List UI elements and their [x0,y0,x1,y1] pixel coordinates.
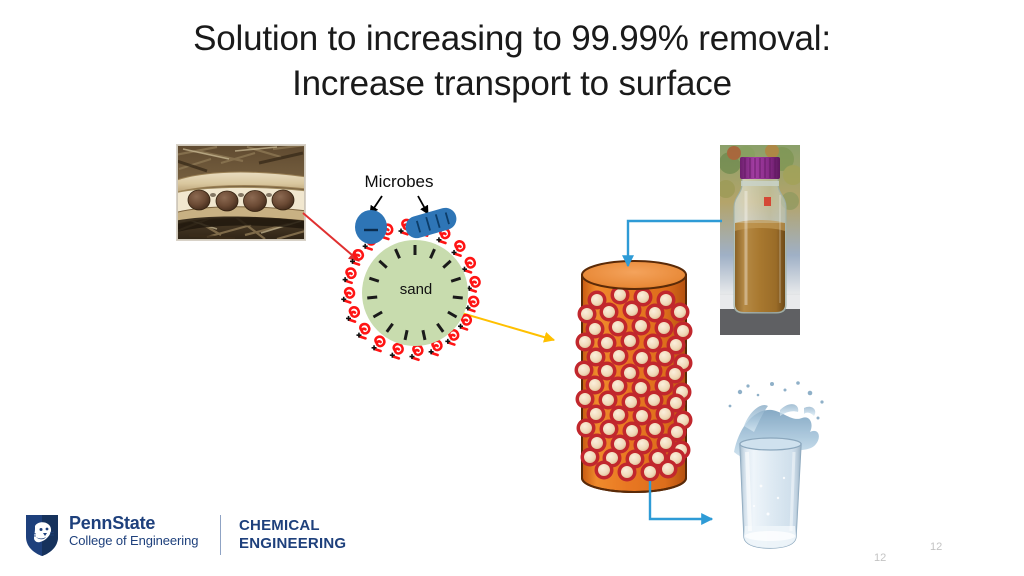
pennstate-wordmark: PennState College of Engineering [69,513,198,549]
page-number-a: 12 [874,552,886,564]
arrow-to-rod-microbe [418,196,428,214]
clean-water-glass-photo [706,366,836,558]
department-name: CHEMICAL ENGINEERING [239,517,346,553]
arrow-to-round-microbe [370,196,382,214]
round-microbe-icon [355,210,387,244]
brand-name: PennState [69,513,198,533]
column-top-surface [582,261,686,289]
turbid-water-bottle-photo [720,145,800,335]
page-number-b: 12 [930,541,942,553]
arrow-sand-to-column [458,312,554,340]
slide-canvas: Solution to increasing to 99.99% removal… [0,0,1024,576]
title-line-1: Solution to increasing to 99.99% removal… [62,16,962,61]
connector-bottle-to-column [628,221,722,266]
arrow-seedpod-to-sand [303,213,359,261]
brand-subtitle: College of Engineering [69,533,198,549]
seedpod-photo [176,144,306,241]
pennstate-logo: PennState College of Engineering CHEMICA… [24,511,334,559]
rod-microbe-icon [403,205,459,240]
title-line-2: Increase transport to surface [62,61,962,106]
page-title: Solution to increasing to 99.99% removal… [62,16,962,106]
coated-sand-grains [575,286,693,482]
sand-label: sand [383,281,449,299]
connector-column-to-glass [650,481,712,519]
microbes-label: Microbes [352,172,446,192]
department-line-1: CHEMICAL [239,517,346,535]
filter-column [575,261,693,492]
logo-divider [220,515,221,555]
nittany-lion-shield-icon [24,513,60,557]
department-line-2: ENGINEERING [239,535,346,553]
